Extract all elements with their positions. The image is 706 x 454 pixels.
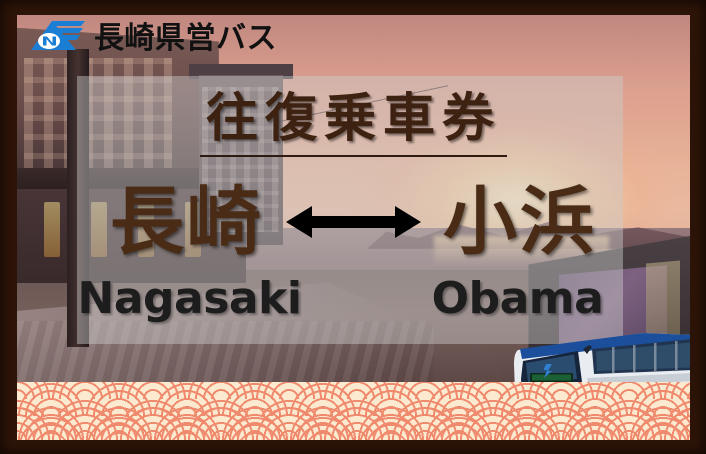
ticket-title-wrap: 往復乗車券 [17, 93, 690, 157]
origin-station-romaji: Nagasaki [40, 277, 340, 321]
seigaiha-wave-pattern [17, 382, 690, 440]
round-trip-ticket: 長崎県営バス 往復乗車券 長崎 小浜 Nagasaki Obama [0, 0, 706, 454]
route-row: 長崎 小浜 [17, 185, 690, 259]
ticket-title: 往復乗車券 [200, 93, 507, 157]
route-romaji-row: Nagasaki Obama [17, 277, 690, 321]
destination-station-romaji: Obama [368, 277, 668, 321]
brand-name: 長崎県営バス [94, 24, 277, 54]
destination-station-jp: 小浜 [443, 185, 597, 259]
double-headed-arrow-icon [286, 201, 421, 243]
brand-header: 長崎県営バス [29, 18, 277, 60]
nagasaki-bus-wing-logo-icon [29, 18, 85, 60]
origin-station-jp: 長崎 [110, 185, 264, 259]
ticket-canvas: 長崎県営バス 往復乗車券 長崎 小浜 Nagasaki Obama [17, 15, 690, 440]
seigaiha-wave-row [17, 406, 690, 440]
